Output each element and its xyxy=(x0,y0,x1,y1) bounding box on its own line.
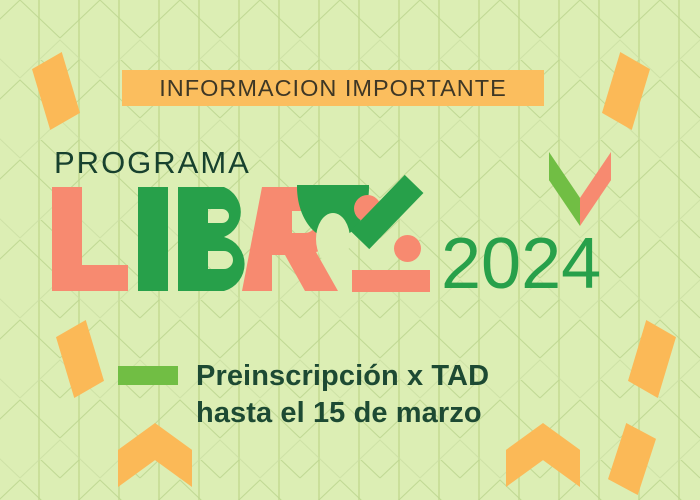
footer-text: Preinscripción x TAD hasta el 15 de marz… xyxy=(196,358,489,432)
percent-bar xyxy=(352,270,430,292)
libro-wordmark xyxy=(50,185,380,295)
percent-dot-bottom xyxy=(394,235,421,262)
footer-line-1: Preinscripción x TAD xyxy=(196,358,489,395)
footer-dash-marker xyxy=(118,366,178,385)
information-banner: INFORMACION IMPORTANTE xyxy=(122,70,544,106)
footer-line-2: hasta el 15 de marzo xyxy=(196,395,489,432)
eyebrow-programa: PROGRAMA xyxy=(54,145,251,181)
poster-canvas: INFORMACION IMPORTANTE PROGRAMA 2024 xyxy=(0,0,700,500)
information-banner-text: INFORMACION IMPORTANTE xyxy=(159,75,507,102)
percent-mark-icon xyxy=(352,193,452,293)
year-label: 2024 xyxy=(441,228,601,300)
